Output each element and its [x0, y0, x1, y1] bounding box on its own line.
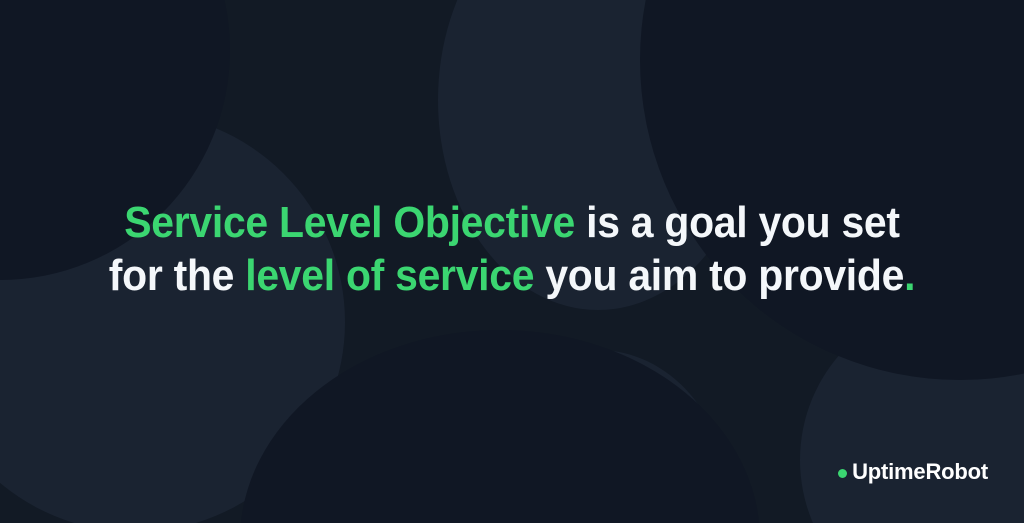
background-shadow-bottom: [240, 330, 760, 523]
logo-wordmark: UptimeRobot: [852, 459, 988, 485]
headline-accent-period: .: [904, 251, 915, 300]
quote-card: Service Level Objective is a goal you se…: [0, 0, 1024, 523]
headline-accent-1: Service Level Objective: [124, 198, 575, 247]
headline-plain-2-prefix: for the: [109, 251, 245, 300]
headline-plain-2-suffix: you aim to provide: [534, 251, 904, 300]
headline-line-1: Service Level Objective is a goal you se…: [36, 196, 988, 249]
headline-plain-1: is a goal you set: [575, 198, 900, 247]
headline: Service Level Objective is a goal you se…: [36, 196, 988, 302]
background-circle-center-bottom: [468, 350, 728, 523]
background-circle-left: [0, 112, 345, 523]
uptimerobot-logo: UptimeRobot: [838, 459, 988, 485]
background-circle-right-bottom: [800, 300, 1024, 523]
headline-line-2: for the level of service you aim to prov…: [36, 249, 988, 302]
headline-accent-2: level of service: [245, 251, 534, 300]
background-shadow-top-right: [640, 0, 1024, 380]
green-dot-icon: [838, 469, 847, 478]
